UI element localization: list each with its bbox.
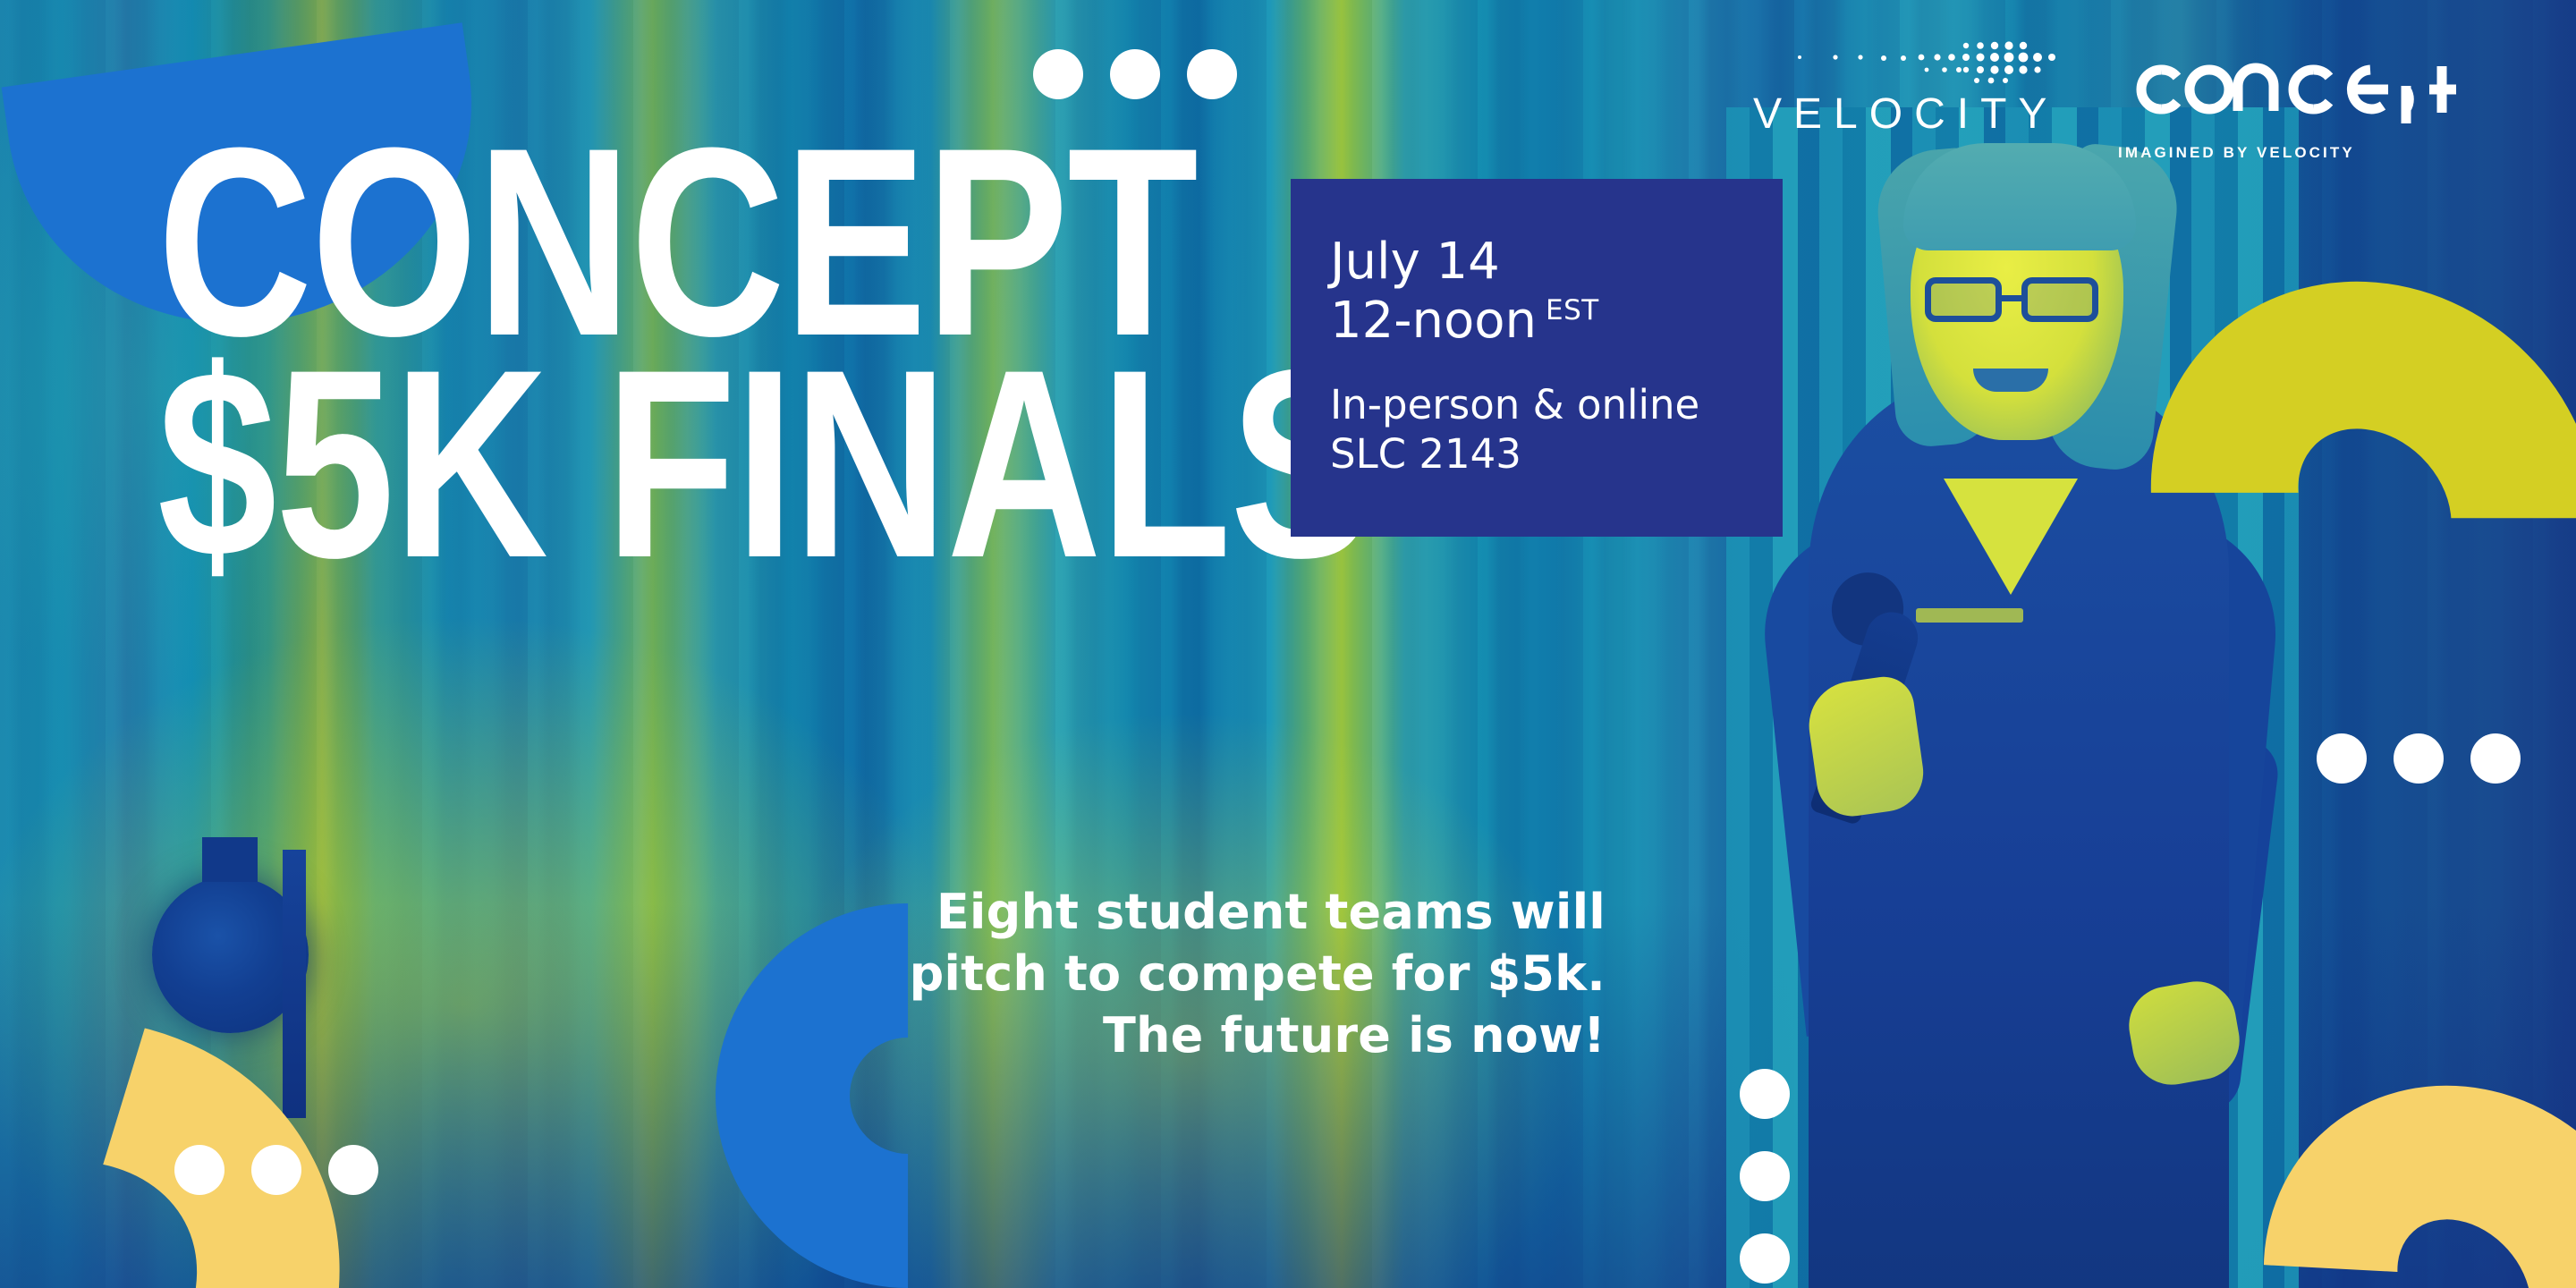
photo-shirt-logo bbox=[1916, 608, 2023, 623]
event-details-panel: July 14 12-noonEST In-person & online SL… bbox=[1291, 179, 1783, 537]
logo-group: VELOCITY bbox=[1753, 34, 2456, 162]
decorative-dot bbox=[2394, 733, 2444, 784]
speaker-photo bbox=[1726, 107, 2299, 1288]
concept-wordmark bbox=[2118, 57, 2456, 133]
event-location: SLC 2143 bbox=[1330, 430, 1783, 479]
velocity-wordmark: VELOCITY bbox=[1753, 93, 2068, 136]
decorative-dot bbox=[1740, 1151, 1790, 1201]
body-copy-line-1: Eight student teams will bbox=[859, 881, 1606, 943]
velocity-logo[interactable]: VELOCITY bbox=[1753, 34, 2068, 136]
body-copy-line-3: The future is now! bbox=[859, 1004, 1606, 1066]
decorative-dot bbox=[174, 1145, 225, 1195]
decorative-dot bbox=[1740, 1069, 1790, 1119]
event-date: July 14 bbox=[1330, 233, 1783, 292]
body-copy-line-2: pitch to compete for $5k. bbox=[859, 943, 1606, 1004]
photo-mouth bbox=[1973, 369, 2048, 392]
decorative-dot bbox=[251, 1145, 301, 1195]
decorative-dot bbox=[2317, 733, 2367, 784]
decorative-dot bbox=[1740, 1233, 1790, 1284]
event-time-row: 12-noonEST bbox=[1330, 292, 1783, 351]
event-format: In-person & online bbox=[1330, 381, 1783, 430]
panel-spacer bbox=[1330, 351, 1783, 381]
concept-logo[interactable]: IMAGINED BY VELOCITY bbox=[2118, 34, 2456, 162]
photo-left-hand bbox=[1803, 673, 1928, 820]
velocity-arrow-icon bbox=[1753, 34, 2068, 88]
decorative-dot bbox=[328, 1145, 378, 1195]
dot-cluster-bottom-left bbox=[174, 1145, 378, 1195]
dot-cluster-right bbox=[2317, 733, 2521, 784]
body-copy: Eight student teams will pitch to compet… bbox=[859, 881, 1606, 1066]
decorative-dot bbox=[2470, 733, 2521, 784]
event-time: 12-noon bbox=[1330, 292, 1537, 350]
dot-cluster-bottom-right bbox=[1740, 1069, 1790, 1284]
photo-eyeglass-right bbox=[2021, 277, 2098, 322]
concept-tagline: IMAGINED BY VELOCITY bbox=[2118, 144, 2456, 162]
event-poster: VELOCITY bbox=[0, 0, 2576, 1288]
photo-eyeglass-left bbox=[1925, 277, 2002, 322]
photo-eyeglass-bridge bbox=[2002, 295, 2023, 301]
stage-light-stand bbox=[283, 850, 306, 1118]
event-timezone: EST bbox=[1546, 294, 1599, 326]
headline-line-2: $5K FINALS bbox=[157, 356, 1302, 571]
